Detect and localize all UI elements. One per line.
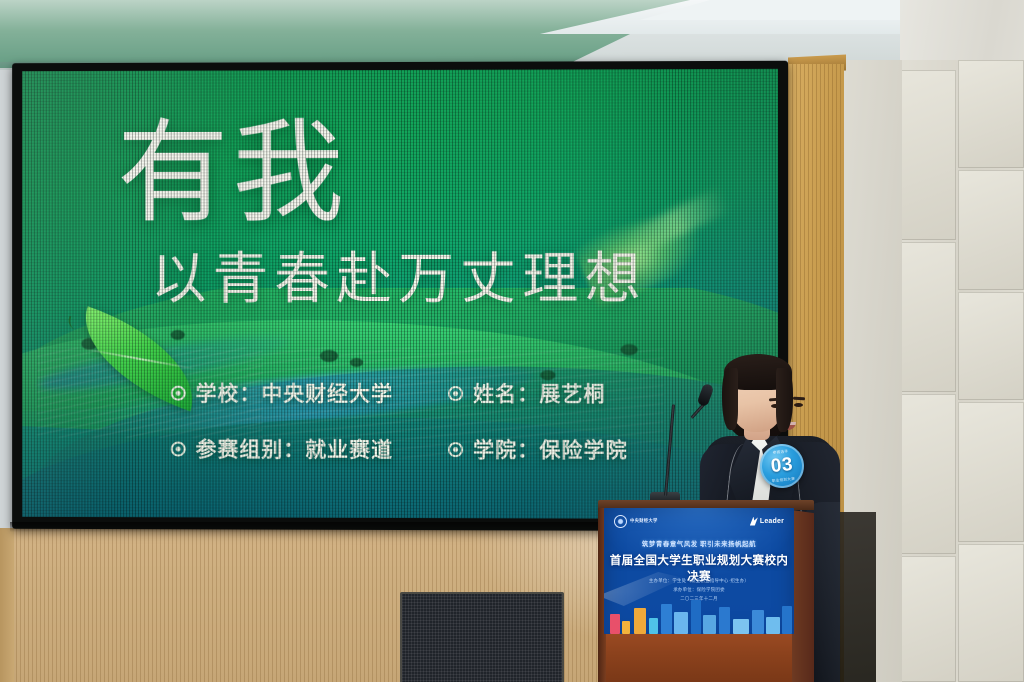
bullet-dot-icon bbox=[171, 441, 186, 456]
slide-title: 有我 bbox=[117, 118, 348, 230]
led-screen-bezel: 有我 以青春赴万丈理想 学校：中央财经大学 姓名：展艺桐 参赛组别：就业赛道 bbox=[12, 61, 788, 532]
meta-item-school: 学校：中央财经大学 bbox=[171, 378, 420, 408]
stone-panel bbox=[958, 544, 1024, 682]
banner-tagline: 筑梦青春意气风发 职引未来扬帆起航 bbox=[604, 539, 794, 548]
podium-event-banner: 中央财经大学 Leader 筑梦青春意气风发 职引未来扬帆起航 首届全国大学生职… bbox=[604, 508, 794, 634]
meta-name-text: 姓名：展艺桐 bbox=[473, 378, 605, 408]
slide-subtitle: 以青春赴万丈理想 bbox=[151, 252, 647, 308]
eye-right bbox=[794, 403, 803, 407]
building-icon bbox=[610, 614, 620, 634]
meta-item-name: 姓名：展艺桐 bbox=[448, 378, 699, 408]
building-icon bbox=[674, 612, 688, 634]
stone-panel bbox=[958, 402, 1024, 542]
bullet-dot-icon bbox=[448, 386, 463, 401]
building-icon bbox=[691, 600, 701, 634]
building-icon bbox=[703, 615, 716, 634]
podium-front-panel bbox=[606, 634, 792, 682]
stone-panel bbox=[958, 60, 1024, 168]
stone-panel bbox=[958, 292, 1024, 400]
hair-side-left bbox=[722, 368, 738, 430]
meta-item-college: 学院：保险学院 bbox=[448, 434, 699, 465]
stone-panel bbox=[958, 170, 1024, 290]
slide-meta-grid: 学校：中央财经大学 姓名：展艺桐 参赛组别：就业赛道 学院：保险学院 bbox=[171, 378, 752, 465]
stone-wall-cladding bbox=[884, 60, 1024, 682]
university-logo-text: 中央财经大学 bbox=[630, 518, 658, 524]
university-logo-icon bbox=[614, 515, 627, 528]
building-icon bbox=[649, 618, 658, 634]
building-icon bbox=[782, 606, 792, 634]
screenshot-stage: 有我 以青春赴万丈理想 学校：中央财经大学 姓名：展艺桐 参赛组别：就业赛道 bbox=[0, 0, 1024, 682]
building-icon bbox=[752, 610, 764, 634]
sponsor-logo: Leader bbox=[750, 517, 784, 526]
wall-left-edge bbox=[0, 528, 14, 682]
wall-vent-grille bbox=[400, 592, 564, 682]
building-icon bbox=[634, 608, 646, 634]
bullet-dot-icon bbox=[448, 442, 463, 457]
building-icon bbox=[766, 617, 780, 634]
leader-logo-icon bbox=[750, 517, 758, 526]
meta-item-category: 参赛组别：就业赛道 bbox=[171, 434, 420, 464]
badge-number: 03 bbox=[770, 454, 794, 478]
podium-side-panel bbox=[792, 510, 814, 682]
building-icon bbox=[719, 607, 730, 634]
meta-category-text: 参赛组别：就业赛道 bbox=[196, 434, 393, 464]
meta-school-text: 学校：中央财经大学 bbox=[196, 378, 393, 408]
hair-side-right bbox=[776, 368, 793, 432]
led-screen-display[interactable]: 有我 以青春赴万丈理想 学校：中央财经大学 姓名：展艺桐 参赛组别：就业赛道 bbox=[22, 69, 778, 519]
podium: 中央财经大学 Leader 筑梦青春意气风发 职引未来扬帆起航 首届全国大学生职… bbox=[596, 500, 816, 682]
bullet-dot-icon bbox=[171, 385, 186, 400]
eyebrow-right bbox=[793, 397, 805, 400]
sponsor-logo-text: Leader bbox=[760, 518, 784, 525]
building-icon bbox=[733, 619, 749, 634]
banner-logo-row: 中央财经大学 Leader bbox=[604, 512, 794, 530]
building-icon bbox=[622, 621, 630, 634]
university-logo: 中央财经大学 bbox=[614, 515, 658, 528]
meta-college-text: 学院：保险学院 bbox=[473, 434, 628, 464]
building-icon bbox=[661, 604, 672, 634]
banner-cityscape bbox=[604, 592, 794, 634]
